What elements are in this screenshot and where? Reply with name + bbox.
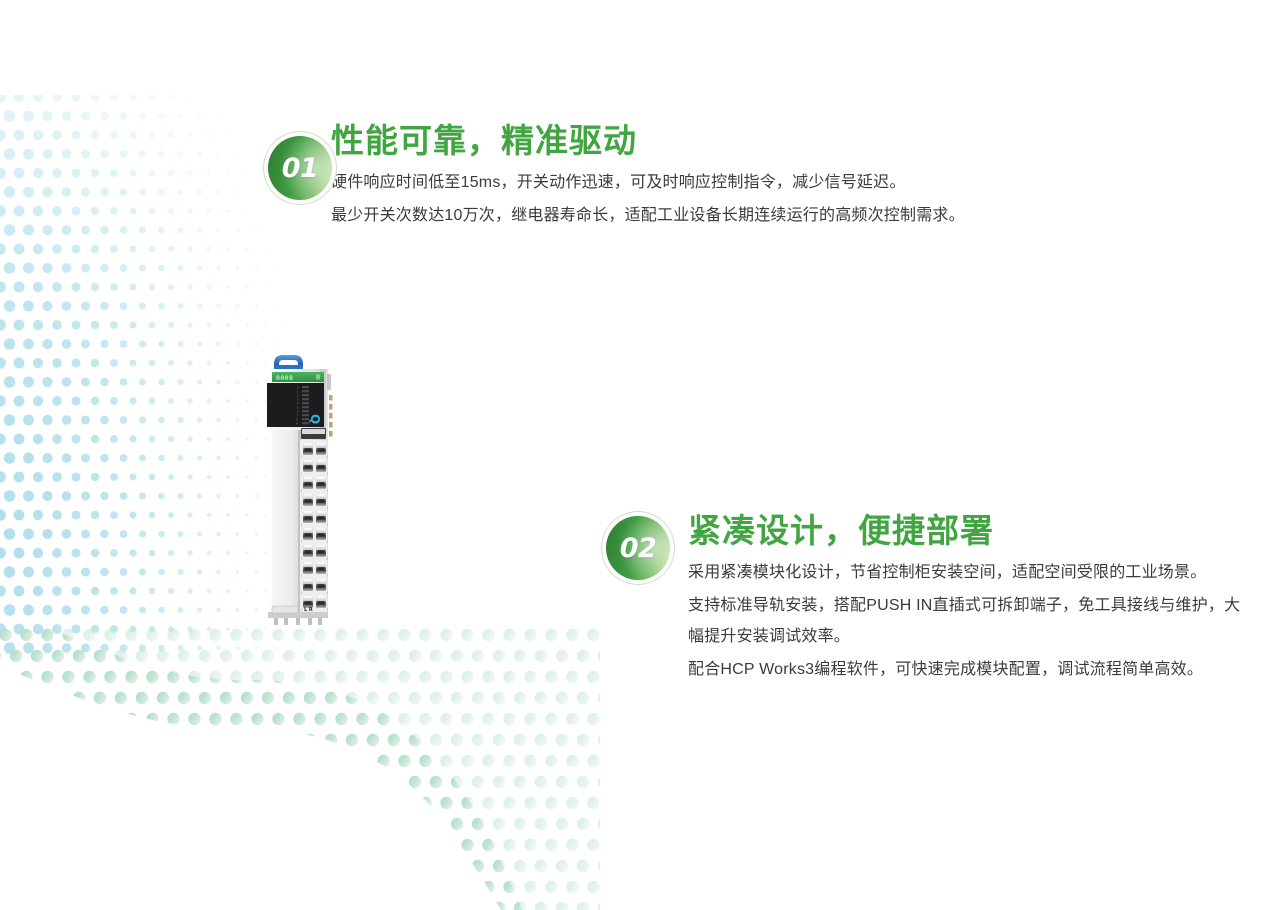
feature-title-02: 紧凑设计，便捷部署	[688, 512, 1248, 550]
product-image-plc-module: 0008 01 23 45 67 89 Q	[258, 352, 353, 627]
feature-block-01: 01 性能可靠，精准驱动 硬件响应时间低至15ms，开关动作迅速，可及时响应控制…	[268, 120, 1028, 233]
feature-badge-02: 02	[606, 516, 670, 580]
feature-paragraph: 最少开关次数达10万次，继电器寿命长，适配工业设备长期连续运行的高频次控制需求。	[331, 200, 1028, 231]
feature-paragraph: 支持标准导轨安装，搭配PUSH IN直插式可拆卸端子，免工具接线与维护，大幅提升…	[688, 590, 1248, 652]
module-led-window: 01 23 45 67 89 Q	[267, 383, 324, 427]
svg-text:8: 8	[327, 591, 329, 595]
feature-title-01: 性能可靠，精准驱动	[331, 122, 1028, 160]
svg-text:1: 1	[327, 472, 329, 476]
svg-text:7: 7	[327, 574, 329, 578]
svg-text:6: 6	[327, 557, 329, 561]
module-top-clip	[274, 355, 303, 370]
svg-text:L R: L R	[304, 607, 313, 613]
svg-text:5: 5	[327, 540, 329, 544]
svg-text:0008: 0008	[276, 374, 293, 382]
feature-paragraph: 硬件响应时间低至15ms，开关动作迅速，可及时响应控制指令，减少信号延迟。	[331, 167, 1028, 198]
module-green-label: 0008	[272, 372, 324, 382]
svg-text:3: 3	[327, 506, 329, 510]
halftone-wave-bottom-decoration	[0, 620, 600, 910]
svg-text:9: 9	[327, 608, 329, 612]
feature-badge-01: 01	[268, 136, 332, 200]
module-terminal-block: 00112233445566778899	[300, 440, 329, 612]
svg-text:2: 2	[327, 489, 329, 493]
svg-text:Q: Q	[308, 414, 322, 424]
feature-paragraphs-01: 硬件响应时间低至15ms，开关动作迅速，可及时响应控制指令，减少信号延迟。 最少…	[331, 167, 1028, 231]
feature-badge-number-02: 02	[620, 535, 657, 562]
feature-badge-number-01: 01	[282, 155, 319, 182]
feature-paragraph: 采用紧凑模块化设计，节省控制柜安装空间，适配空间受限的工业场景。	[688, 557, 1248, 588]
module-side-connector-dashes	[329, 395, 333, 437]
feature-paragraph: 配合HCP Works3编程软件，可快速完成模块配置，调试流程简单高效。	[688, 654, 1248, 685]
feature-paragraphs-02: 采用紧凑模块化设计，节省控制柜安装空间，适配空间受限的工业场景。 支持标准导轨安…	[688, 557, 1248, 685]
feature-block-02: 02 紧凑设计，便捷部署 采用紧凑模块化设计，节省控制柜安装空间，适配空间受限的…	[606, 512, 1248, 687]
svg-text:0: 0	[327, 455, 329, 459]
svg-text:4: 4	[327, 523, 329, 527]
feature-body-02: 紧凑设计，便捷部署 采用紧凑模块化设计，节省控制柜安装空间，适配空间受限的工业场…	[688, 512, 1248, 687]
